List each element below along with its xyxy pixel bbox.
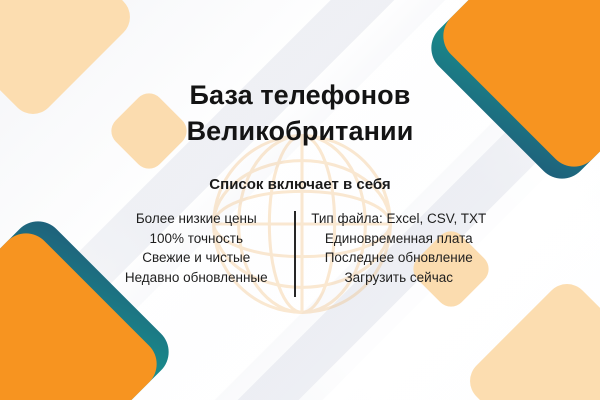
list-item: 100% точность: [112, 229, 280, 249]
list-item: Единовременная плата: [310, 229, 488, 249]
feature-column-right: Тип файла: Excel, CSV, TXT Единовременна…: [296, 209, 488, 287]
page-title-line-1: База телефонов: [190, 80, 411, 110]
promo-banner: База телефонов Великобритании Список вкл…: [0, 0, 600, 400]
page-title: База телефонов Великобритании: [90, 0, 510, 149]
feature-columns: Более низкие цены 100% точность Свежие и…: [112, 209, 488, 297]
list-item: Свежие и чистые: [112, 248, 280, 268]
subtitle: Список включает в себя: [209, 149, 390, 193]
list-item: Тип файла: Excel, CSV, TXT: [310, 209, 488, 229]
list-item: Последнее обновление: [310, 248, 488, 268]
feature-column-left: Более низкие цены 100% точность Свежие и…: [112, 209, 294, 287]
page-title-line-2: Великобритании: [187, 116, 414, 146]
list-item: Более низкие цены: [112, 209, 280, 229]
list-item: Недавно обновленные: [112, 268, 280, 288]
banner-content: База телефонов Великобритании Список вкл…: [0, 0, 600, 400]
list-item: Загрузить сейчас: [310, 268, 488, 288]
